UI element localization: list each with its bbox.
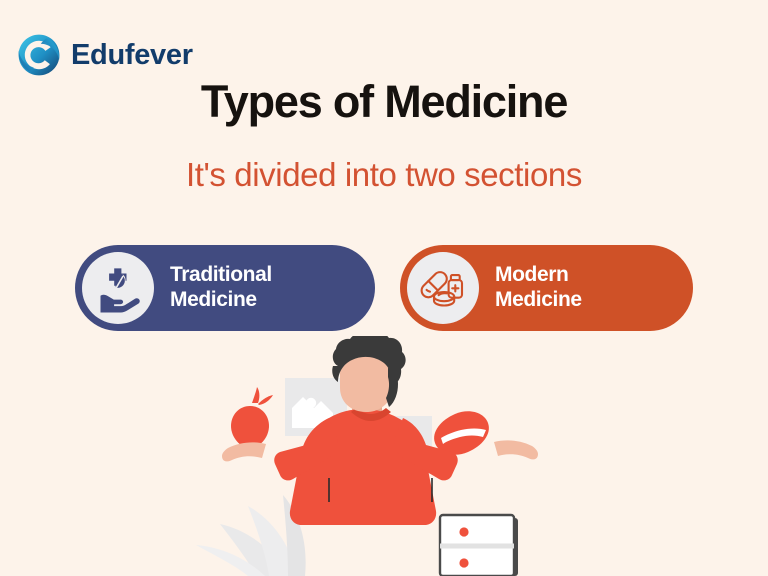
brand-logo[interactable]: Edufever [16,32,193,78]
section-label-traditional-medicine: Traditional Medicine [170,263,272,313]
hand-holding-leaf-cross-icon [92,262,144,314]
section-card-traditional-medicine[interactable]: Traditional Medicine [75,245,375,331]
section-card-modern-medicine[interactable]: Modern Medicine [400,245,693,331]
modern-medicine-badge [407,252,479,324]
poster-canvas: Edufever Types of Medicine It's divided … [0,0,768,576]
plant-leaves [196,495,306,576]
person-shrugging [222,336,538,525]
section-label-modern-medicine: Modern Medicine [495,263,582,313]
brand-name: Edufever [71,41,193,70]
illustration-svg: ? ? [0,336,768,576]
drawer-cabinet [440,515,518,576]
traditional-medicine-badge [82,252,154,324]
apple-icon [231,387,273,448]
capsule-pill-icon [434,411,489,455]
edufever-swirl-e-logo-icon [16,32,62,78]
page-title: Types of Medicine [0,76,768,128]
confused-person-shrugging-illustration: ? ? [0,336,768,576]
page-subtitle: It's divided into two sections [0,155,768,195]
pills-bottle-icon [417,262,469,314]
